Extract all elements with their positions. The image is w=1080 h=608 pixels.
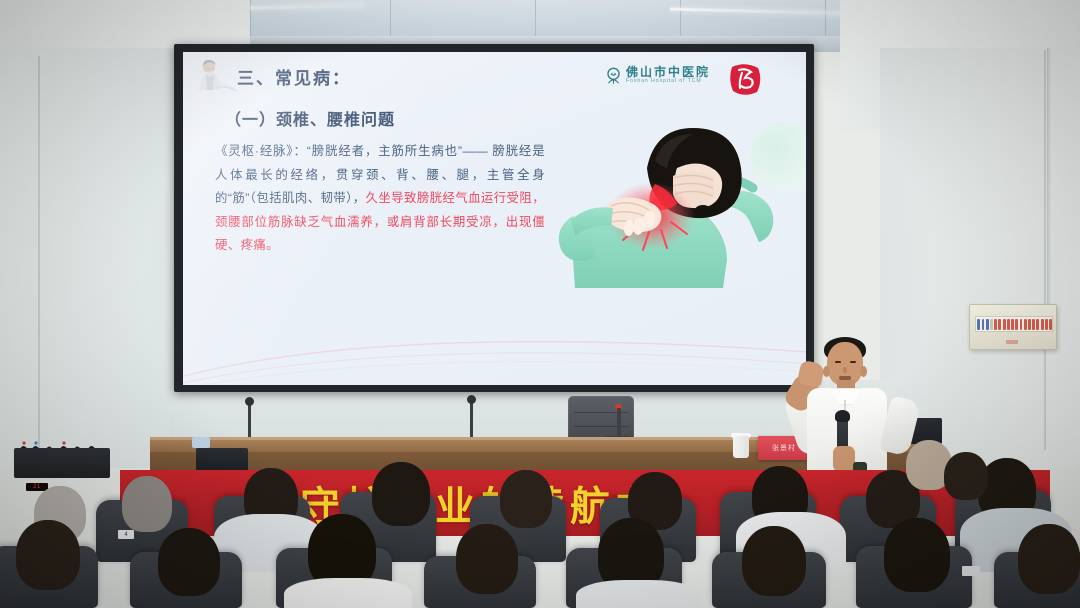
breaker-switch-row xyxy=(975,316,1053,332)
neck-pain-person-illustration xyxy=(551,124,801,324)
audience-shoulders xyxy=(576,580,700,608)
audience-head xyxy=(742,526,806,596)
desk-microphone xyxy=(470,402,473,440)
lecture-hall-scene: 三、常见病： （一）颈椎、腰椎问题 佛山市中医院 Foshan Hospital… xyxy=(0,0,1080,608)
hospital-name-en: Foshan Hospital of TCM xyxy=(626,79,710,84)
lotus-mark-icon xyxy=(605,67,622,84)
audience-head xyxy=(16,520,80,590)
audience-head xyxy=(456,524,518,594)
audience-shoulders xyxy=(284,578,412,608)
projection-screen: 三、常见病： （一）颈椎、腰椎问题 佛山市中医院 Foshan Hospital… xyxy=(183,52,806,385)
audience-head xyxy=(158,528,220,596)
seat-number xyxy=(962,566,980,576)
decor-curve-lines xyxy=(183,315,806,385)
tcm-physician-illustration-icon xyxy=(193,58,239,94)
microphone-head xyxy=(835,410,850,422)
tea-cup xyxy=(733,436,749,458)
wall-column-edge xyxy=(1047,48,1051,348)
slide-title: 三、常见病： xyxy=(237,64,351,89)
audience-head xyxy=(372,462,430,526)
electrical-breaker-panel xyxy=(969,304,1057,350)
tissue-pack xyxy=(192,437,210,448)
red-seal-stamp-icon xyxy=(728,60,762,96)
presenter-mic-hand xyxy=(833,446,855,472)
presenter-raised-hand xyxy=(797,360,825,388)
slide-subtitle: （一）颈椎、腰椎问题 xyxy=(225,106,395,130)
audience-head xyxy=(500,470,552,528)
wall-left xyxy=(0,48,180,468)
desk-microphone xyxy=(248,404,251,440)
audience-head xyxy=(944,452,988,500)
audience-head xyxy=(122,476,172,532)
hospital-logo: 佛山市中医院 Foshan Hospital of TCM xyxy=(605,66,710,84)
presenter xyxy=(793,336,911,486)
audience-head xyxy=(884,518,950,592)
audience-head xyxy=(1018,524,1080,594)
seat-number: 4 xyxy=(118,530,134,539)
audio-mixer[interactable] xyxy=(14,448,110,478)
mixer-display-value: 21 xyxy=(33,484,41,490)
slide-body-text: 《灵枢·经脉》：“膀胱经者，主筋所生病也”—— 膀胱经是人体最长的经络，贯穿颈、… xyxy=(215,140,545,258)
hospital-name-cn: 佛山市中医院 xyxy=(626,66,710,78)
presentation-slide: 三、常见病： （一）颈椎、腰椎问题 佛山市中医院 Foshan Hospital… xyxy=(183,52,806,385)
